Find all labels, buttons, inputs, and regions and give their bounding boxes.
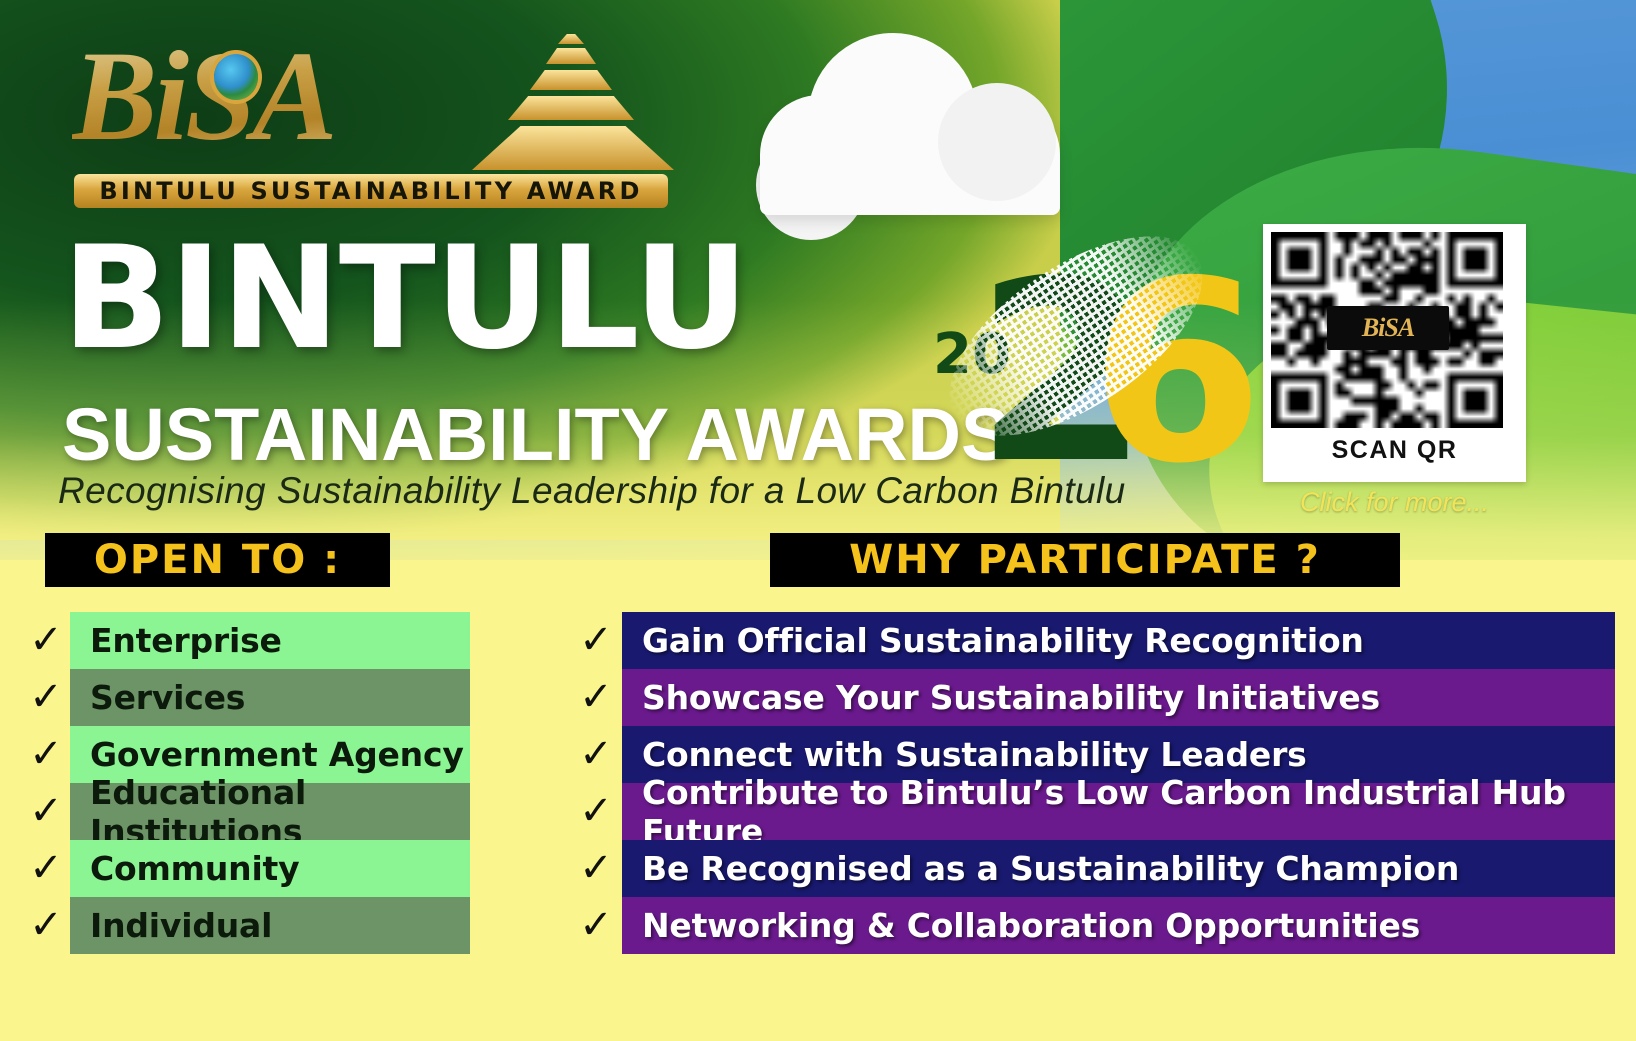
why-participate-list: ✓ Gain Official Sustainability Recogniti… <box>570 612 1615 954</box>
check-icon: ✓ <box>22 783 70 840</box>
list-item: ✓ Contribute to Bintulu’s Low Carbon Ind… <box>570 783 1615 840</box>
check-icon: ✓ <box>570 840 622 897</box>
globe-icon <box>214 54 258 100</box>
why-participate-heading-text: WHY PARTICIPATE ? <box>849 537 1321 583</box>
check-icon: ✓ <box>22 726 70 783</box>
list-item: ✓ Gain Official Sustainability Recogniti… <box>570 612 1615 669</box>
list-item: ✓ Enterprise <box>22 612 472 669</box>
list-item: ✓ Services <box>22 669 472 726</box>
list-item: ✓ Educational Institutions <box>22 783 472 840</box>
open-to-item-pill: Community <box>70 840 470 897</box>
qr-caption-link[interactable]: Click for more... <box>1300 487 1489 518</box>
check-icon: ✓ <box>22 612 70 669</box>
open-to-item-pill: Individual <box>70 897 470 954</box>
list-item-label: Services <box>90 678 245 717</box>
open-to-heading-banner: OPEN TO : <box>45 533 390 587</box>
open-to-list: ✓ Enterprise ✓ Services ✓ Government Age… <box>22 612 472 954</box>
why-participate-heading-banner: WHY PARTICIPATE ? <box>770 533 1400 587</box>
bisa-logo-bar-text: BINTULU SUSTAINABILITY AWARD <box>74 174 668 208</box>
list-item-label: Gain Official Sustainability Recognition <box>642 621 1364 660</box>
check-icon: ✓ <box>570 783 622 840</box>
bisa-logo-bar: BINTULU SUSTAINABILITY AWARD <box>74 174 668 208</box>
page-subtitle: SUSTAINABILITY AWARDS <box>62 398 1010 472</box>
open-to-item-pill: Educational Institutions <box>70 783 470 840</box>
qr-embedded-logo: BiSA <box>1327 306 1449 350</box>
list-item-label: Individual <box>90 906 272 945</box>
cloud-icon <box>760 95 1060 215</box>
check-icon: ✓ <box>570 612 622 669</box>
check-icon: ✓ <box>570 897 622 954</box>
qr-code-image[interactable]: BiSA <box>1271 232 1503 428</box>
list-item-label: Educational Institutions <box>90 773 470 851</box>
check-icon: ✓ <box>570 726 622 783</box>
why-participate-item-pill: Be Recognised as a Sustainability Champi… <box>622 840 1615 897</box>
bisa-logo: BiSA BINTULU SUSTAINABILITY AWARD <box>72 22 672 214</box>
why-participate-item-pill: Gain Official Sustainability Recognition <box>622 612 1615 669</box>
page-title: BINTULU <box>62 228 748 370</box>
qr-label: SCAN QR <box>1271 428 1518 472</box>
year-badge: 2 6 20 <box>915 240 1215 500</box>
check-icon: ✓ <box>22 840 70 897</box>
why-participate-item-pill: Showcase Your Sustainability Initiatives <box>622 669 1615 726</box>
list-item-label: Showcase Your Sustainability Initiatives <box>642 678 1380 717</box>
why-participate-item-pill: Networking & Collaboration Opportunities <box>622 897 1615 954</box>
poster-root: BiSA BINTULU SUSTAINABILITY AWARD BINTUL… <box>0 0 1636 1041</box>
why-participate-item-pill: Contribute to Bintulu’s Low Carbon Indus… <box>622 783 1615 840</box>
open-to-heading-text: OPEN TO : <box>94 537 341 583</box>
list-item: ✓ Networking & Collaboration Opportuniti… <box>570 897 1615 954</box>
list-item: ✓ Community <box>22 840 472 897</box>
check-icon: ✓ <box>570 669 622 726</box>
open-to-item-pill: Services <box>70 669 470 726</box>
list-item: ✓ Individual <box>22 897 472 954</box>
list-item-label: Networking & Collaboration Opportunities <box>642 906 1420 945</box>
list-item-label: Government Agency <box>90 735 464 774</box>
list-item-label: Contribute to Bintulu’s Low Carbon Indus… <box>642 773 1615 851</box>
list-item-label: Be Recognised as a Sustainability Champi… <box>642 849 1459 888</box>
list-item-label: Community <box>90 849 299 888</box>
qr-code-card[interactable]: BiSA SCAN QR <box>1263 224 1526 482</box>
list-item: ✓ Be Recognised as a Sustainability Cham… <box>570 840 1615 897</box>
tower-icon <box>470 30 676 170</box>
check-icon: ✓ <box>22 669 70 726</box>
open-to-item-pill: Enterprise <box>70 612 470 669</box>
list-item: ✓ Showcase Your Sustainability Initiativ… <box>570 669 1615 726</box>
check-icon: ✓ <box>22 897 70 954</box>
list-item-label: Connect with Sustainability Leaders <box>642 735 1307 774</box>
list-item-label: Enterprise <box>90 621 282 660</box>
